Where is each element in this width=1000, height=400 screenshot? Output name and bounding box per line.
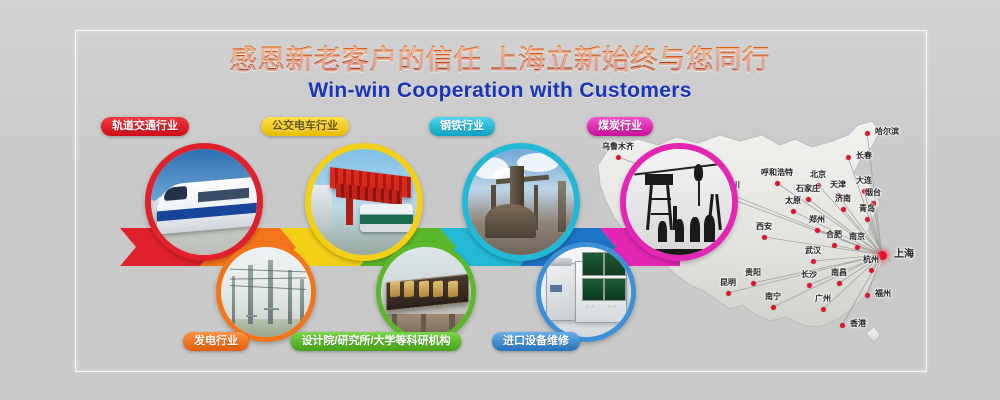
badge-rail[interactable]: 轨道交通行业 (101, 117, 189, 136)
university-sign-image (381, 247, 471, 337)
research-photo (381, 247, 471, 337)
rail-photo (151, 149, 257, 255)
power-photo (221, 247, 311, 337)
steel-ring (462, 143, 580, 261)
coal-photo (626, 149, 732, 255)
coal-ring (620, 143, 738, 261)
research-ring (376, 242, 476, 342)
bus-ring (305, 143, 423, 261)
headline-chinese: 感恩新老客户的信任 上海立新始终与您同行 (230, 44, 771, 76)
headline-english: Win-win Cooperation with Customers (0, 79, 1000, 103)
power-transmission-towers-image (221, 247, 311, 337)
rail-ring (145, 143, 263, 261)
badge-steel[interactable]: 钢铁行业 (429, 117, 495, 136)
badge-power[interactable]: 发电行业 (183, 332, 249, 351)
repair-photo (541, 247, 631, 337)
steel-blast-furnace-image (468, 149, 574, 255)
badge-research[interactable]: 设计院/研究所/大学等科研机构 (290, 332, 461, 351)
steel-photo (468, 149, 574, 255)
city-bus-pavilion-image (311, 149, 417, 255)
repair-ring (536, 242, 636, 342)
banner-stage: 乌鲁木齐哈尔滨长春呼和浩特银川北京天津大连石家庄烟台太原济南青岛郑州西安南京合肥… (0, 0, 1000, 400)
badge-repair[interactable]: 进口设备维修 (492, 332, 580, 351)
coal-mine-derrick-image (626, 149, 732, 255)
electrical-switchgear-image (541, 247, 631, 337)
power-ring (216, 242, 316, 342)
badge-coal[interactable]: 煤炭行业 (587, 117, 653, 136)
headline-block: 感恩新老客户的信任 上海立新始终与您同行 Win-win Cooperation… (0, 44, 1000, 103)
high-speed-train-image (151, 149, 257, 255)
badge-bus[interactable]: 公交电车行业 (261, 117, 349, 136)
bus-photo (311, 149, 417, 255)
